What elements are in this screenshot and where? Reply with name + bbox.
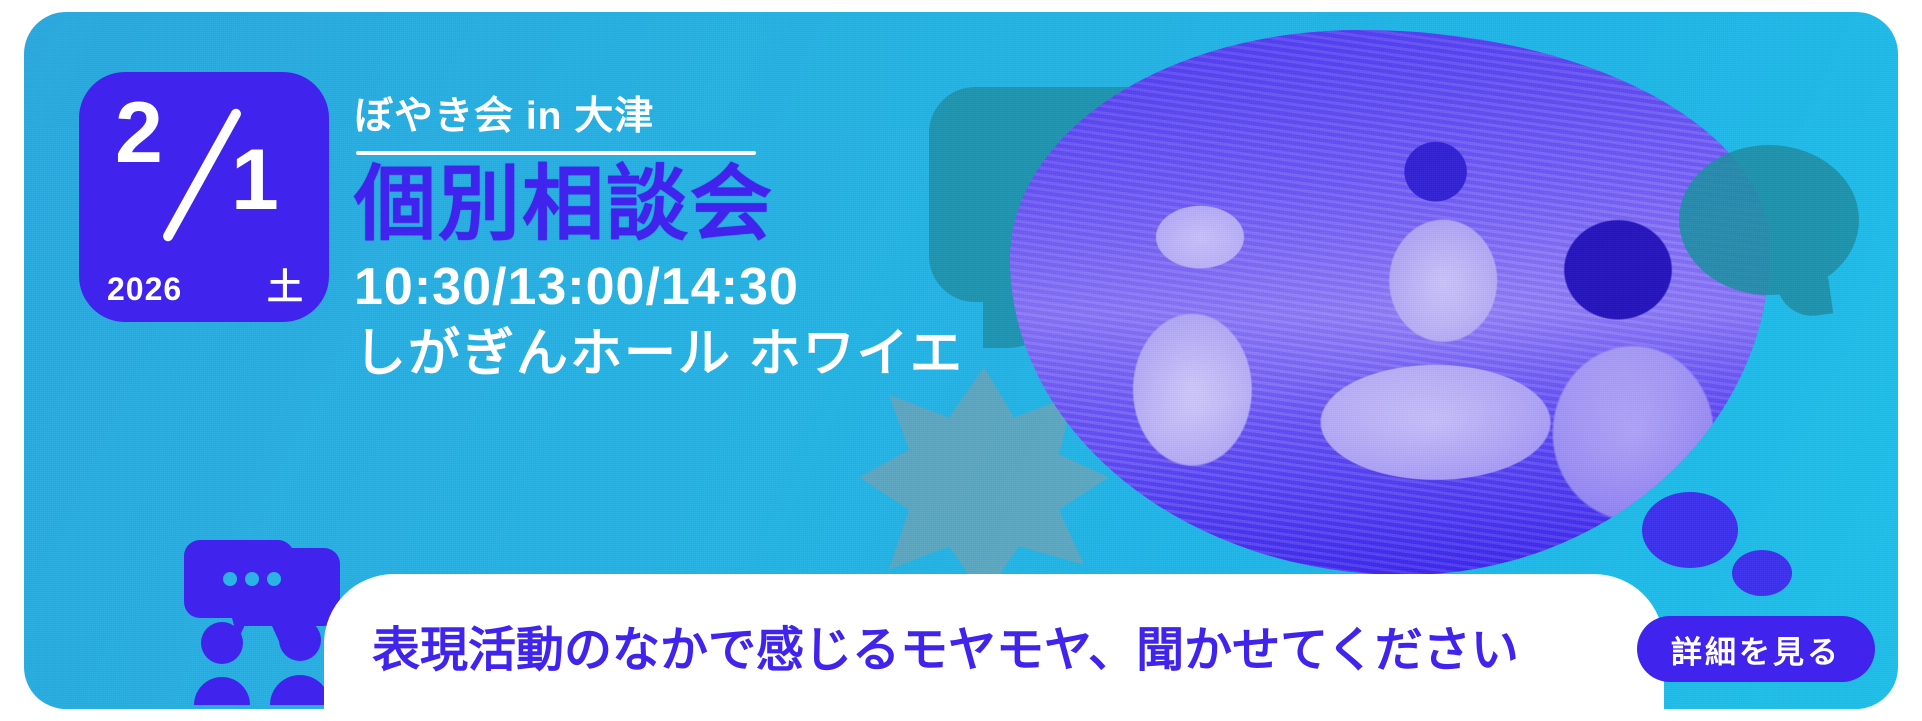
decorative-ellipse-small: [1732, 550, 1792, 596]
speech-bubble-icon-right: [1679, 145, 1859, 295]
event-photo-image: [1010, 30, 1770, 575]
decorative-ellipse-large: [1642, 492, 1738, 568]
divider: [356, 151, 756, 155]
date-month: 2: [115, 90, 163, 176]
tagline-panel: 表現活動のなかで感じるモヤモヤ、聞かせてください: [324, 574, 1664, 709]
date-day-of-week: 土: [267, 258, 303, 310]
view-details-button[interactable]: 詳細を見る: [1637, 616, 1875, 682]
headline-block: ぼやき会 in 大津 個別相談会 10:30/13:00/14:30 しがぎんホ…: [354, 94, 1034, 387]
event-venue: しがぎんホール ホワイエ: [354, 322, 1034, 387]
event-photo: [1010, 30, 1770, 575]
date-badge: 2 1 2026 土: [79, 72, 329, 322]
event-banner: 2 1 2026 土 ぼやき会 in 大津 個別相談会 10:30/13:00/…: [24, 12, 1898, 709]
date-year: 2026: [107, 271, 182, 308]
tagline-text: 表現活動のなかで感じるモヤモヤ、聞かせてください: [372, 610, 1519, 680]
event-series-label: ぼやき会 in 大津: [354, 94, 1034, 141]
page-title: 個別相談会: [354, 159, 1034, 251]
date-day: 1: [231, 137, 279, 223]
event-times: 10:30/13:00/14:30: [354, 255, 1034, 320]
date-fraction: 2 1: [79, 82, 329, 247]
